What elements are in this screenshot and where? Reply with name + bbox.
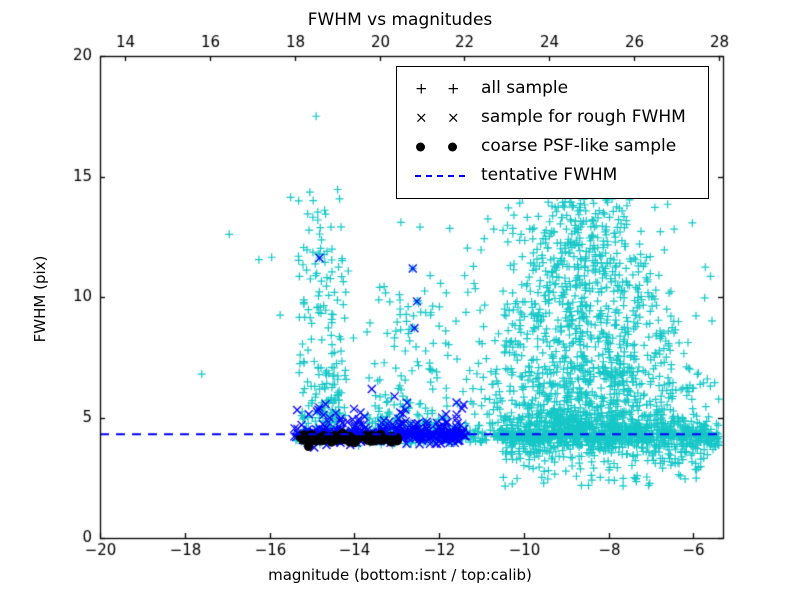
legend-label-coarse-psf: coarse PSF-like sample bbox=[481, 138, 676, 155]
legend-label-all-sample: all sample bbox=[481, 80, 568, 97]
dot-icon bbox=[416, 142, 425, 151]
legend-marker-tentative-fwhm bbox=[407, 161, 481, 190]
dot-icon bbox=[448, 142, 457, 151]
plus-icon: + bbox=[415, 81, 428, 96]
dashed-line-icon bbox=[415, 175, 465, 177]
legend-marker-coarse-psf bbox=[407, 132, 481, 161]
legend-item-rough-fwhm: × × sample for rough FWHM bbox=[407, 103, 698, 132]
legend-item-tentative-fwhm: tentative FWHM bbox=[407, 161, 698, 190]
legend-marker-rough-fwhm: × × bbox=[407, 103, 481, 132]
cross-icon: × bbox=[447, 110, 460, 125]
legend-item-all-sample: + + all sample bbox=[407, 74, 698, 103]
figure-canvas-container: FWHM vs magnitudes magnitude (bottom:isn… bbox=[0, 0, 800, 600]
cross-icon: × bbox=[415, 110, 428, 125]
legend: + + all sample × × sample for rough FWHM… bbox=[396, 66, 709, 199]
legend-marker-all-sample: + + bbox=[407, 74, 481, 103]
legend-label-tentative-fwhm: tentative FWHM bbox=[481, 167, 617, 184]
plus-icon: + bbox=[447, 81, 460, 96]
legend-item-coarse-psf: coarse PSF-like sample bbox=[407, 132, 698, 161]
legend-label-rough-fwhm: sample for rough FWHM bbox=[481, 109, 686, 126]
